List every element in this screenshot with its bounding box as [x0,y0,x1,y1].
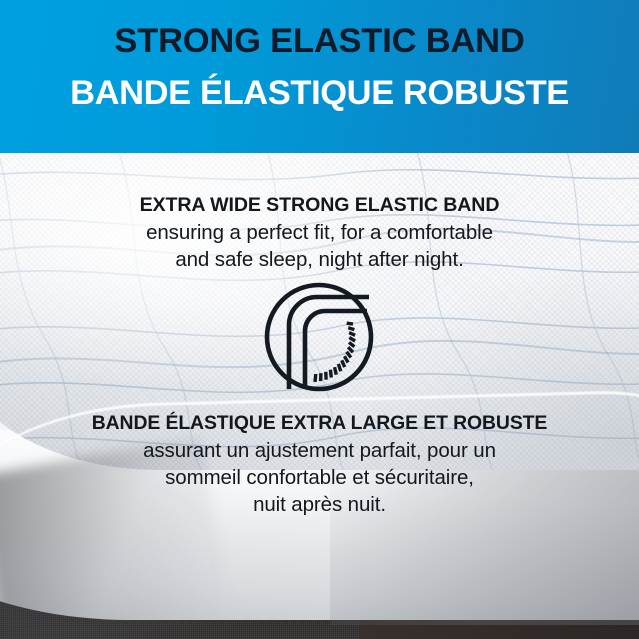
mattress-corner-elastic-band-icon [263,281,375,393]
feature-body-fr-line-3: nuit après nuit. [0,492,639,517]
feature-body-en-line-2: and safe sleep, night after night. [0,247,639,272]
feature-body-en-line-1: ensuring a perfect fit, for a comfortabl… [0,220,639,245]
feature-heading-en: EXTRA WIDE STRONG ELASTIC BAND [0,193,639,218]
infographic-page: STRONG ELASTIC BAND BANDE ÉLASTIQUE ROBU… [0,0,639,639]
feature-copy-french: BANDE ÉLASTIQUE EXTRA LARGE ET ROBUSTE a… [0,411,639,517]
icon-circle-outline [267,285,371,389]
feature-body-fr-line-2: sommeil confortable et sécuritaire, [0,465,639,490]
icon-elastic-ribbing [315,323,355,382]
feature-heading-fr: BANDE ÉLASTIQUE EXTRA LARGE ET ROBUSTE [0,411,639,436]
feature-copy-english: EXTRA WIDE STRONG ELASTIC BAND ensuring … [0,193,639,272]
feature-body-fr-line-1: assurant un ajustement parfait, pour un [0,438,639,463]
